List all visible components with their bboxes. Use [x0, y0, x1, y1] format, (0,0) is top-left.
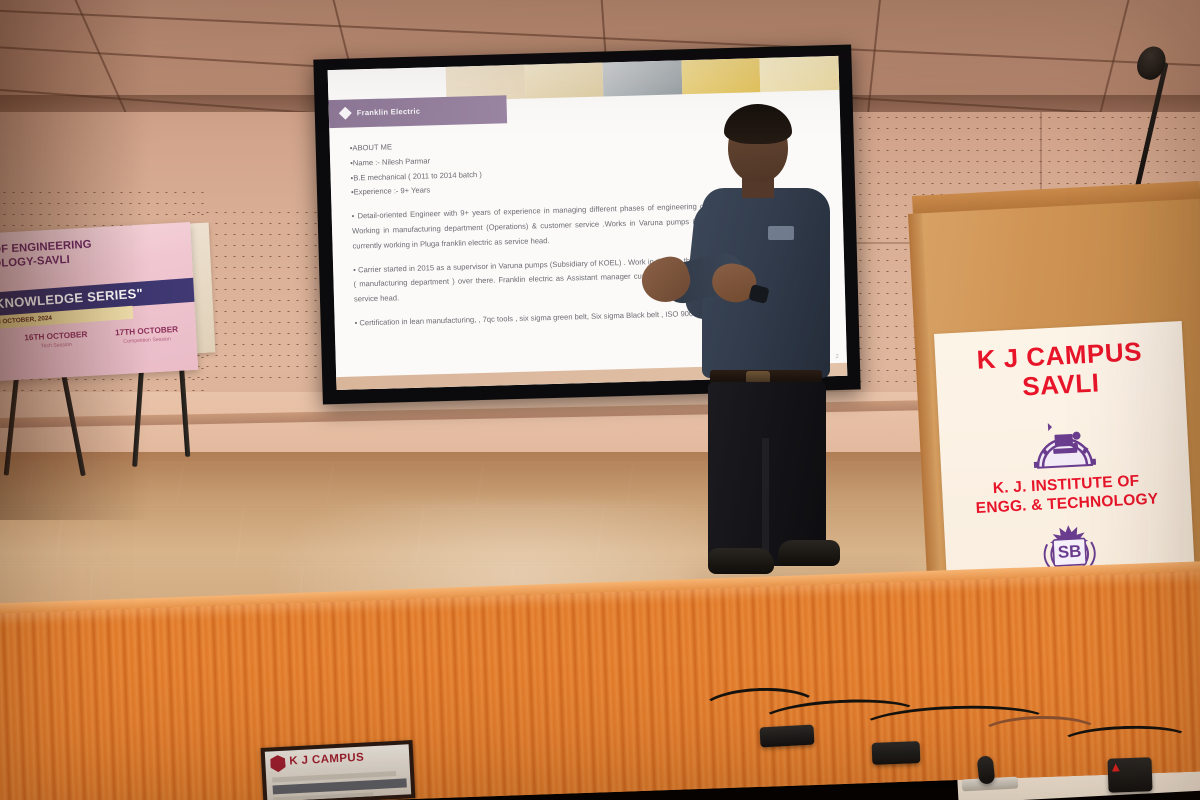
presenter: [650, 108, 880, 578]
status-led-icon: [1112, 763, 1120, 771]
brand-label: Franklin Electric: [357, 107, 421, 118]
slide-header-image: [524, 63, 604, 99]
auditorium-scene: TUTE OF ENGINEERING ECHNOLOGY-SAVLI ABHA…: [0, 0, 1200, 800]
banner-headline: TUTE OF ENGINEERING ECHNOLOGY-SAVLI: [0, 233, 186, 273]
slide-header-image: [603, 60, 683, 96]
presenter-leg-split: [762, 438, 769, 566]
stage-front-sign: K J CAMPUS: [261, 740, 416, 800]
power-adapter: [760, 725, 815, 748]
banner-date-column: 16TH OCTOBER Tech Session: [24, 330, 88, 352]
banner-session: Competition Session: [115, 336, 178, 347]
presenter-hair: [724, 104, 792, 144]
slide-header-images: [328, 56, 840, 104]
gear-institute-emblem-icon: [1027, 407, 1100, 473]
institute-name: K. J. INSTITUTE OF ENGG. & TECHNOLOGY: [948, 470, 1186, 519]
banner-session: Tech Session: [25, 341, 88, 352]
banner-date-column: 17TH OCTOBER Competition Session: [115, 325, 179, 347]
banner-date-columns: BER Session 16TH OCTOBER Tech Session 17…: [0, 324, 197, 355]
franklin-electric-logo: Franklin Electric: [339, 105, 421, 120]
floor-tile: [0, 508, 63, 564]
mic-transmitter: [977, 755, 996, 785]
stage-sign-title: K J CAMPUS: [289, 752, 364, 768]
svg-text:SB: SB: [1057, 541, 1082, 561]
slide-header-image: [760, 56, 840, 92]
power-adapter: [872, 741, 921, 765]
presenter-left-shoe: [708, 548, 774, 574]
slide-header-image: [681, 58, 761, 94]
floor-tile: [57, 508, 244, 564]
power-adapter[interactable]: [1107, 757, 1152, 793]
event-banner: TUTE OF ENGINEERING ECHNOLOGY-SAVLI ABHA…: [0, 222, 198, 383]
presenter-right-shoe: [778, 540, 840, 566]
floor-tile: [27, 462, 184, 506]
shield-crest-icon: [270, 755, 286, 773]
presenter-shirt-badge: [768, 226, 794, 240]
diamond-logo-icon: [339, 107, 352, 120]
